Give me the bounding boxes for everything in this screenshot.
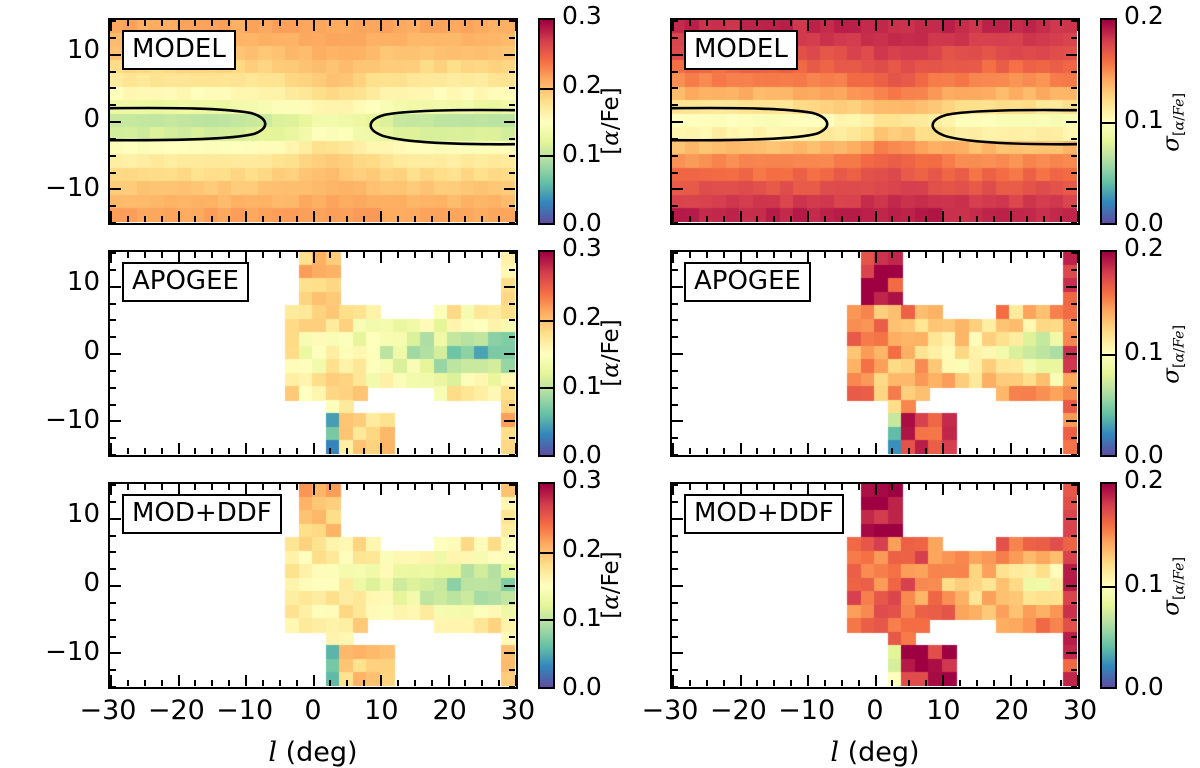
axis-tick <box>1071 172 1077 174</box>
axis-tick <box>1071 269 1077 271</box>
axis-tick <box>891 680 893 686</box>
axis-tick <box>346 252 348 258</box>
axis-tick <box>397 680 399 686</box>
axis-tick <box>194 216 196 222</box>
axis-tick <box>110 443 112 454</box>
axis-tick <box>891 252 893 258</box>
axis-tick <box>380 211 382 222</box>
axis-tick <box>509 551 515 553</box>
colorbar-tick <box>1102 354 1115 356</box>
axis-tick <box>1071 551 1077 553</box>
axis-tick <box>942 443 944 454</box>
axis-tick <box>228 252 230 258</box>
axis-tick <box>672 71 678 73</box>
axis-tick <box>110 269 116 271</box>
axis-tick <box>110 675 112 686</box>
colorbar-axis-label-left-0: [α/Fe] <box>598 61 624 181</box>
axis-tick <box>1026 484 1028 490</box>
axis-tick <box>397 448 399 454</box>
colorbar-right-2 <box>1100 482 1117 689</box>
axis-tick <box>448 675 450 686</box>
axis-tick <box>464 484 466 490</box>
axis-tick <box>110 121 121 123</box>
axis-tick <box>110 188 121 190</box>
axis-tick <box>1010 675 1012 686</box>
axis-tick <box>689 252 691 258</box>
panel-label-apogee-sigma: APOGEE <box>684 262 811 302</box>
axis-tick <box>723 252 725 258</box>
axis-tick <box>515 211 517 222</box>
axis-tick <box>262 216 264 222</box>
axis-tick <box>127 20 129 26</box>
axis-tick <box>790 20 792 26</box>
axis-tick <box>925 680 927 686</box>
axis-tick <box>959 448 961 454</box>
axis-tick <box>993 20 995 26</box>
axis-tick <box>689 216 691 222</box>
axis-tick <box>841 448 843 454</box>
axis-tick <box>1077 211 1079 222</box>
axis-tick <box>1043 216 1045 222</box>
axis-tick <box>993 216 995 222</box>
axis-tick <box>414 448 416 454</box>
axis-tick <box>1026 448 1028 454</box>
axis-tick <box>509 71 515 73</box>
axis-tick <box>296 448 298 454</box>
colorbar-ticklabel: 0.3 <box>562 465 602 494</box>
axis-tick <box>211 20 213 26</box>
colorbar-tick <box>540 387 553 389</box>
axis-tick <box>414 216 416 222</box>
axis-tick <box>110 37 116 39</box>
axis-tick <box>509 20 515 22</box>
axis-tick <box>509 37 515 39</box>
axis-tick <box>313 20 315 31</box>
axis-tick <box>228 680 230 686</box>
axis-tick <box>110 71 116 73</box>
axis-tick <box>1066 54 1077 56</box>
axis-tick <box>824 20 826 26</box>
x-ticklabel: 30 <box>1030 695 1130 726</box>
axis-tick <box>504 121 515 123</box>
axis-tick <box>110 602 116 604</box>
axis-tick <box>841 20 843 26</box>
axis-tick <box>1071 535 1077 537</box>
axis-tick <box>464 448 466 454</box>
axis-tick <box>756 680 758 686</box>
axis-tick <box>504 585 515 587</box>
axis-tick <box>127 252 129 258</box>
y-ticklabel: 10 <box>20 267 100 297</box>
axis-tick <box>110 619 116 621</box>
y-ticklabel: 10 <box>20 35 100 65</box>
axis-tick <box>858 680 860 686</box>
axis-tick <box>689 680 691 686</box>
axis-tick <box>672 669 678 671</box>
colorbar-tick <box>1102 122 1115 124</box>
axis-tick <box>1043 20 1045 26</box>
axis-tick <box>509 404 515 406</box>
axis-tick <box>110 172 116 174</box>
axis-tick <box>824 484 826 490</box>
axis-tick <box>672 420 683 422</box>
axis-tick <box>110 54 121 56</box>
axis-tick <box>1071 20 1077 22</box>
axis-tick <box>841 484 843 490</box>
axis-tick <box>1071 87 1077 89</box>
axis-tick <box>329 448 331 454</box>
axis-tick <box>1066 121 1077 123</box>
colorbar-axis-label-left-2: [α/Fe] <box>598 525 624 645</box>
axis-tick <box>993 680 995 686</box>
axis-tick <box>858 448 860 454</box>
axis-tick <box>110 652 121 654</box>
axis-tick <box>509 205 515 207</box>
axis-tick <box>509 319 515 321</box>
axis-tick <box>329 252 331 258</box>
axis-tick <box>161 252 163 258</box>
axis-tick <box>509 484 515 486</box>
axis-tick <box>380 675 382 686</box>
axis-tick <box>509 222 515 224</box>
axis-tick <box>1010 443 1012 454</box>
axis-tick <box>672 619 678 621</box>
axis-tick <box>672 155 678 157</box>
axis-tick <box>144 680 146 686</box>
axis-tick <box>194 448 196 454</box>
axis-tick <box>481 680 483 686</box>
axis-tick <box>498 680 500 686</box>
axis-tick <box>672 286 683 288</box>
axis-tick <box>993 448 995 454</box>
axis-tick <box>1060 20 1062 26</box>
axis-tick <box>1077 484 1079 495</box>
axis-tick <box>346 484 348 490</box>
panel-label-model-sigma: MODEL <box>684 30 798 70</box>
colorbar-ticklabel: 0.2 <box>1124 465 1164 494</box>
axis-tick <box>1071 104 1077 106</box>
axis-tick <box>329 680 331 686</box>
axis-tick <box>672 652 683 654</box>
axis-tick <box>1060 484 1062 490</box>
axis-tick <box>245 211 247 222</box>
axis-tick <box>1060 680 1062 686</box>
axis-tick <box>959 252 961 258</box>
axis-tick <box>380 20 382 31</box>
axis-tick <box>807 675 809 686</box>
axis-tick <box>1071 319 1077 321</box>
axis-tick <box>1066 585 1077 587</box>
axis-tick <box>672 484 678 486</box>
axis-tick <box>509 252 515 254</box>
axis-tick <box>110 155 116 157</box>
axis-tick <box>672 303 678 305</box>
axis-tick <box>194 252 196 258</box>
axis-tick <box>875 443 877 454</box>
axis-tick <box>773 680 775 686</box>
axis-tick <box>509 104 515 106</box>
axis-tick <box>1066 286 1077 288</box>
axis-tick <box>448 484 450 495</box>
colorbar-ticklabel: 0.3 <box>562 1 602 30</box>
axis-tick <box>672 188 683 190</box>
axis-tick <box>773 20 775 26</box>
axis-tick <box>211 484 213 490</box>
axis-tick <box>228 216 230 222</box>
axis-tick <box>858 252 860 258</box>
axis-tick <box>481 20 483 26</box>
colorbar-gradient <box>540 20 553 223</box>
axis-tick <box>481 484 483 490</box>
axis-tick <box>672 437 678 439</box>
axis-tick <box>773 448 775 454</box>
axis-tick <box>211 680 213 686</box>
axis-tick <box>706 216 708 222</box>
axis-tick <box>161 484 163 490</box>
colorbar-right-1 <box>1100 250 1117 457</box>
axis-tick <box>672 121 683 123</box>
axis-tick <box>515 443 517 454</box>
axis-tick <box>509 501 515 503</box>
axis-tick <box>397 20 399 26</box>
colorbar-ticklabel: 0.3 <box>562 233 602 262</box>
axis-tick <box>1043 448 1045 454</box>
axis-tick <box>110 370 116 372</box>
axis-tick <box>672 20 678 22</box>
axis-tick <box>504 652 515 654</box>
axis-tick <box>706 680 708 686</box>
axis-tick <box>296 252 298 258</box>
axis-tick <box>1026 20 1028 26</box>
axis-tick <box>431 448 433 454</box>
axis-tick <box>925 484 927 490</box>
axis-tick <box>908 20 910 26</box>
axis-tick <box>1066 353 1077 355</box>
axis-tick <box>672 87 678 89</box>
axis-tick <box>346 680 348 686</box>
axis-tick <box>976 252 978 258</box>
axis-tick <box>1071 205 1077 207</box>
axis-tick <box>110 319 116 321</box>
axis-tick <box>1071 336 1077 338</box>
axis-tick <box>773 484 775 490</box>
axis-tick <box>313 443 315 454</box>
panel-label-modddf-alpha: MOD+DDF <box>122 494 282 534</box>
axis-tick <box>110 222 116 224</box>
axis-tick <box>110 336 116 338</box>
axis-tick <box>942 484 944 495</box>
axis-tick <box>279 484 281 490</box>
axis-tick <box>397 252 399 258</box>
axis-tick <box>313 211 315 222</box>
axis-tick <box>178 443 180 454</box>
axis-tick <box>481 216 483 222</box>
axis-tick <box>504 286 515 288</box>
axis-tick <box>509 535 515 537</box>
axis-tick <box>706 20 708 26</box>
axis-tick <box>144 448 146 454</box>
axis-tick <box>110 437 116 439</box>
colorbar-tick <box>540 619 553 621</box>
axis-tick <box>346 216 348 222</box>
axis-tick <box>1071 155 1077 157</box>
axis-tick <box>481 448 483 454</box>
axis-tick <box>1060 252 1062 258</box>
colorbar-right-0 <box>1100 18 1117 225</box>
axis-tick <box>464 20 466 26</box>
axis-tick <box>363 680 365 686</box>
axis-tick <box>1043 252 1045 258</box>
axis-tick <box>959 484 961 490</box>
colorbar-tick <box>540 155 553 157</box>
axis-tick <box>925 448 927 454</box>
axis-tick <box>481 252 483 258</box>
axis-tick <box>110 353 121 355</box>
axis-tick <box>858 20 860 26</box>
axis-tick <box>329 484 331 490</box>
panel-label-apogee-alpha: APOGEE <box>122 262 249 302</box>
axis-tick <box>908 216 910 222</box>
axis-tick <box>1043 680 1045 686</box>
axis-tick <box>1071 501 1077 503</box>
colorbar-axis-label-right-2: σ[α/Fe] <box>1159 526 1188 646</box>
axis-tick <box>110 535 116 537</box>
axis-tick <box>672 387 678 389</box>
axis-tick <box>228 484 230 490</box>
axis-tick <box>1060 216 1062 222</box>
colorbar-left-0 <box>538 18 555 225</box>
axis-tick <box>773 252 775 258</box>
axis-tick <box>509 172 515 174</box>
axis-tick <box>942 20 944 31</box>
axis-tick <box>110 387 116 389</box>
axis-tick <box>498 448 500 454</box>
axis-tick <box>127 680 129 686</box>
axis-tick <box>110 420 121 422</box>
axis-tick <box>672 501 678 503</box>
axis-tick <box>976 448 978 454</box>
axis-tick <box>672 686 678 688</box>
axis-tick <box>504 420 515 422</box>
axis-tick <box>1071 37 1077 39</box>
axis-tick <box>925 20 927 26</box>
axis-tick <box>431 680 433 686</box>
axis-tick <box>1010 252 1012 263</box>
axis-tick <box>672 104 678 106</box>
axis-tick <box>891 484 893 490</box>
axis-tick <box>448 20 450 31</box>
axis-tick <box>1066 188 1077 190</box>
axis-tick <box>509 454 515 456</box>
axis-tick <box>509 619 515 621</box>
axis-tick <box>858 484 860 490</box>
axis-tick <box>807 20 809 31</box>
axis-tick <box>211 216 213 222</box>
axis-tick <box>363 448 365 454</box>
axis-tick <box>790 216 792 222</box>
axis-tick <box>1071 602 1077 604</box>
axis-tick <box>723 484 725 490</box>
axis-tick <box>1010 211 1012 222</box>
axis-tick <box>414 484 416 490</box>
y-ticklabel: −10 <box>20 405 100 435</box>
axis-tick <box>1071 370 1077 372</box>
axis-tick <box>908 680 910 686</box>
axis-tick <box>509 602 515 604</box>
colorbar-left-2 <box>538 482 555 689</box>
axis-tick <box>875 675 877 686</box>
axis-tick <box>672 585 683 587</box>
y-ticklabel: −10 <box>20 637 100 667</box>
colorbar-ticklabel: 0.2 <box>562 70 602 99</box>
axis-tick <box>279 680 281 686</box>
axis-tick <box>689 20 691 26</box>
axis-tick <box>110 686 116 688</box>
axis-tick <box>1060 448 1062 454</box>
axis-tick <box>144 484 146 490</box>
axis-tick <box>509 636 515 638</box>
axis-tick <box>858 216 860 222</box>
axis-tick <box>431 252 433 258</box>
axis-tick <box>464 680 466 686</box>
axis-tick <box>706 252 708 258</box>
axis-tick <box>110 252 116 254</box>
colorbar-ticklabel: 0.2 <box>562 302 602 331</box>
axis-tick <box>672 454 678 456</box>
axis-tick <box>706 484 708 490</box>
axis-tick <box>509 686 515 688</box>
axis-tick <box>110 138 116 140</box>
axis-tick <box>211 252 213 258</box>
axis-tick <box>1066 652 1077 654</box>
y-ticklabel: 0 <box>20 568 100 598</box>
axis-tick <box>346 20 348 26</box>
axis-tick <box>144 20 146 26</box>
axis-tick <box>380 252 382 263</box>
axis-tick <box>279 216 281 222</box>
axis-tick <box>194 484 196 490</box>
axis-tick <box>431 20 433 26</box>
y-ticklabel: 10 <box>20 499 100 529</box>
colorbar-tick <box>540 320 553 322</box>
axis-tick <box>1071 252 1077 254</box>
axis-tick <box>245 675 247 686</box>
axis-tick <box>773 216 775 222</box>
axis-tick <box>194 20 196 26</box>
axis-tick <box>672 568 678 570</box>
axis-tick <box>875 484 877 495</box>
axis-tick <box>1010 484 1012 495</box>
axis-tick <box>740 443 742 454</box>
colorbar-ticklabel: 0.2 <box>1124 233 1164 262</box>
axis-tick <box>127 484 129 490</box>
axis-tick <box>296 20 298 26</box>
axis-tick <box>296 680 298 686</box>
axis-tick <box>959 216 961 222</box>
axis-tick <box>178 675 180 686</box>
axis-tick <box>110 501 116 503</box>
axis-tick <box>672 269 678 271</box>
axis-tick <box>110 87 116 89</box>
axis-tick <box>313 484 315 495</box>
axis-tick <box>110 205 116 207</box>
axis-tick <box>509 269 515 271</box>
axis-tick <box>993 252 995 258</box>
axis-tick <box>509 336 515 338</box>
axis-tick <box>363 484 365 490</box>
axis-tick <box>1071 686 1077 688</box>
axis-tick <box>509 138 515 140</box>
